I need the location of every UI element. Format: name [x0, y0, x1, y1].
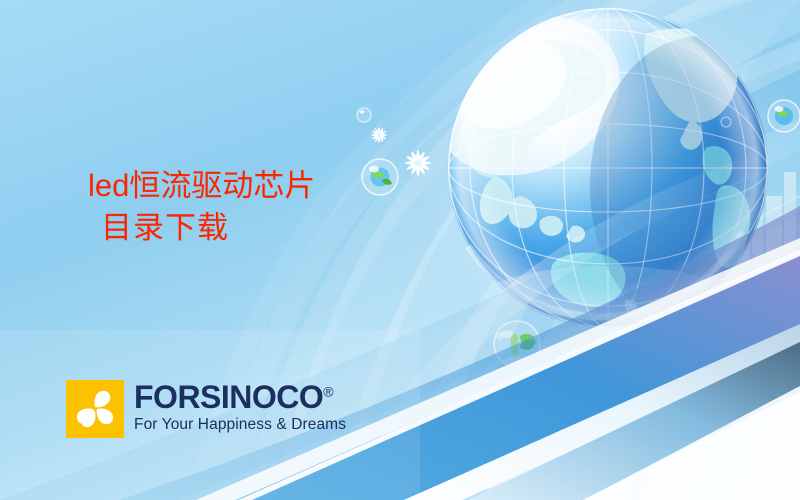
headline-line-1: led恒流驱动芯片: [88, 165, 315, 207]
headline-line-2: 目录下载: [88, 207, 315, 249]
brand-tagline: For Your Happiness & Dreams: [134, 416, 346, 434]
bubble-icon: [357, 108, 371, 122]
bubble-globe-small-icon: [768, 100, 800, 132]
registered-trademark-icon: ®: [323, 383, 333, 399]
brand-name-text: FORSINOCO: [134, 379, 323, 415]
bubble-globe-icon: [362, 159, 398, 195]
pinwheel-flower-icon: [66, 380, 124, 438]
page-title: led恒流驱动芯片 目录下载: [88, 165, 315, 248]
brand-logo[interactable]: FORSINOCO® For Your Happiness & Dreams: [66, 380, 346, 438]
banner-canvas: led恒流驱动芯片 目录下载 FORSINOCO® For Your Happi…: [0, 0, 800, 500]
brand-name: FORSINOCO®: [134, 381, 346, 415]
